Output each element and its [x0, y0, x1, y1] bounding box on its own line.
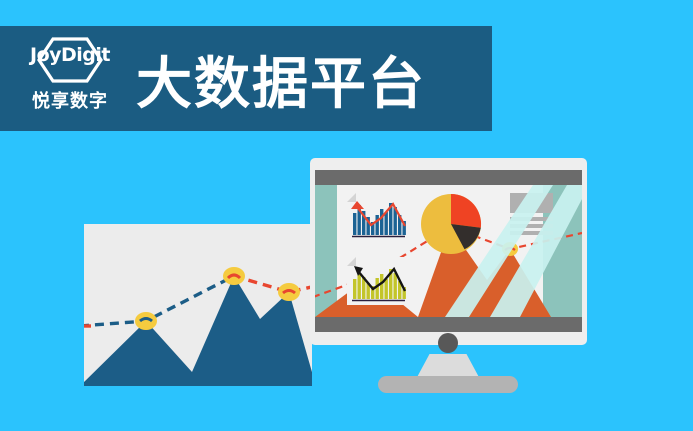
pie-slice-red — [451, 194, 481, 228]
monitor-camera-dot — [438, 333, 458, 353]
peak-marker — [135, 312, 157, 330]
rising-dashed-line — [84, 276, 234, 326]
text-placeholder-block — [510, 193, 553, 235]
text-block-line — [510, 224, 553, 228]
folded-corner — [347, 257, 356, 266]
brand-logo: JoyDigit 悦享数字 — [14, 34, 126, 122]
text-block-heading — [510, 193, 553, 213]
monitor-stand-base — [378, 376, 518, 393]
desktop-monitor — [310, 158, 587, 388]
monitor-top-bar — [315, 170, 582, 185]
olive-bar-chart-card[interactable] — [347, 257, 409, 305]
logo-wordmark: JoyDigit — [14, 46, 126, 65]
falling-dashed-line — [234, 276, 312, 292]
monitor-screen — [315, 185, 582, 317]
text-block-line — [510, 231, 553, 235]
header-banner: JoyDigit 悦享数字 大数据平台 — [0, 26, 492, 131]
text-block-line — [510, 217, 553, 221]
page-title: 大数据平台 — [136, 56, 426, 112]
pie-chart[interactable] — [420, 193, 482, 255]
logo-subtitle: 悦享数字 — [14, 92, 126, 110]
poster-canvas: JoyDigit 悦享数字 大数据平台 — [0, 0, 693, 431]
left-panel-chart — [84, 224, 312, 386]
blue-bar-chart-card[interactable] — [347, 193, 409, 241]
monitor-bottom-bar — [315, 317, 582, 332]
folded-corner — [347, 193, 356, 202]
mountain-trend-panel — [84, 224, 312, 386]
